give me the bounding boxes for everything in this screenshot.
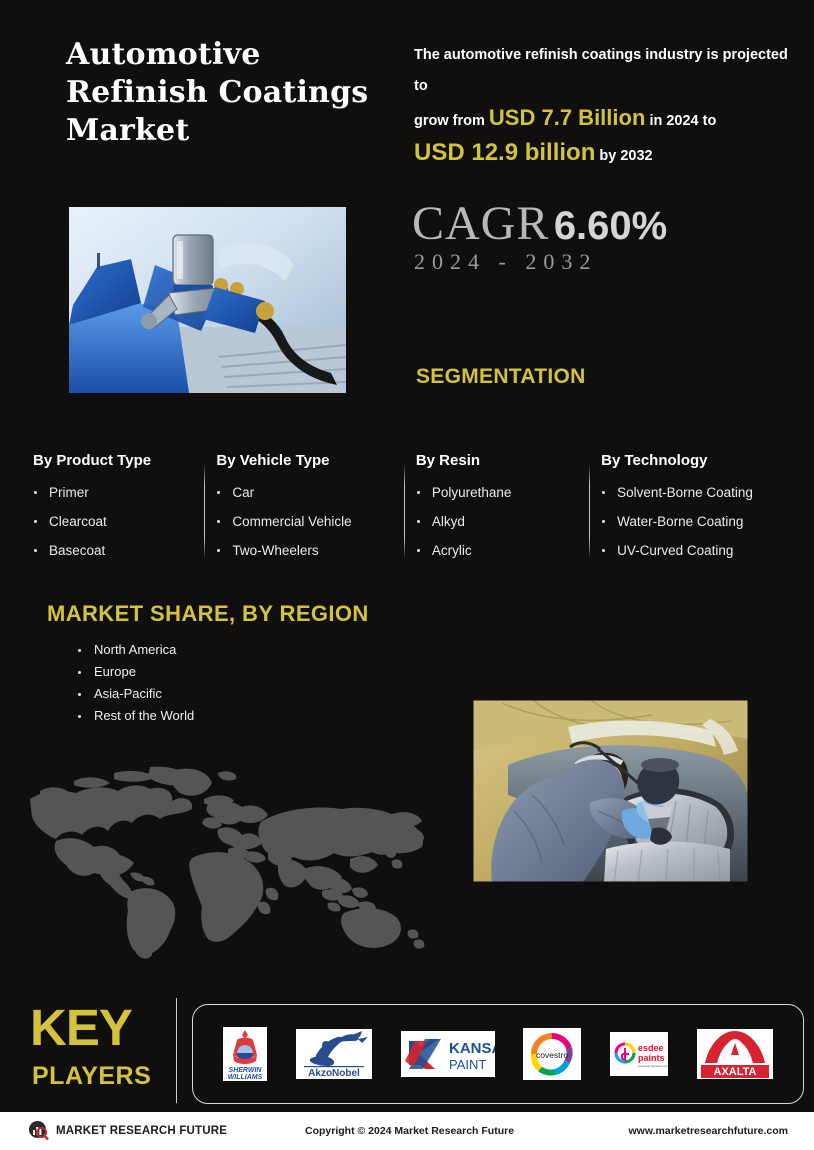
cagr-value: 6.60%	[554, 204, 667, 248]
world-map-art	[22, 765, 442, 965]
footer-brand: MARKET RESEARCH FUTURE	[28, 1120, 227, 1141]
segmentation-column-product-type: By Product Type Primer Clearcoat Basecoa…	[30, 452, 213, 567]
photo-spray-gun-art	[69, 207, 346, 393]
svg-text:industrial pigment combination: industrial pigment combinations	[638, 1064, 668, 1068]
infographic-canvas: Automotive Refinish Coatings Market The …	[0, 0, 814, 1112]
svg-text:SHERWIN: SHERWIN	[229, 1067, 263, 1074]
market-share-heading: MARKET SHARE, BY REGION	[47, 601, 369, 627]
list-item: UV-Curved Coating	[598, 536, 780, 565]
segmentation-column-title: By Product Type	[33, 452, 203, 469]
list-item: Clearcoat	[30, 507, 203, 536]
list-item: Car	[213, 478, 402, 507]
value-2024: USD 7.7 Billion	[489, 105, 645, 130]
list-item: Acrylic	[413, 536, 588, 565]
list-item: Alkyd	[413, 507, 588, 536]
key-players-divider	[176, 998, 177, 1103]
segmentation-column-vehicle-type: By Vehicle Type Car Commercial Vehicle T…	[213, 452, 412, 567]
svg-text:PAINT: PAINT	[449, 1057, 486, 1072]
sherwin-williams-icon: SHERWIN WILLIAMS	[223, 1027, 267, 1081]
list-item: Basecoat	[30, 536, 203, 565]
axalta-icon: AXALTA	[697, 1029, 773, 1079]
svg-text:WILLIAMS: WILLIAMS	[228, 1074, 263, 1081]
logo-kansai-paint[interactable]: KANSAI PAINT	[401, 1031, 495, 1077]
logo-akzonobel[interactable]: AkzoNobel	[296, 1029, 372, 1079]
footer-copyright: Copyright © 2024 Market Research Future	[305, 1125, 514, 1137]
list-item: Asia-Pacific	[74, 683, 194, 705]
logo-sherwin-williams[interactable]: SHERWIN WILLIAMS	[223, 1027, 267, 1081]
list-item: Europe	[74, 661, 194, 683]
covestro-icon: covestro	[523, 1028, 581, 1080]
value-2032: USD 12.9 billion	[414, 139, 595, 166]
market-share-region-list: North America Europe Asia-Pacific Rest o…	[74, 639, 194, 727]
svg-text:AkzoNobel: AkzoNobel	[308, 1068, 360, 1079]
key-players-title-bottom: PLAYERS	[32, 1062, 151, 1091]
segmentation-column-technology: By Technology Solvent-Borne Coating Wate…	[598, 452, 790, 567]
list-item: Rest of the World	[74, 705, 194, 727]
segmentation-list: Solvent-Borne Coating Water-Borne Coatin…	[598, 478, 780, 565]
list-item: North America	[74, 639, 194, 661]
market-research-future-logo-icon	[28, 1120, 49, 1141]
segmentation-heading: SEGMENTATION	[416, 365, 586, 389]
column-divider	[404, 464, 405, 559]
cagr-years: 2024 - 2032	[414, 249, 597, 275]
segmentation-list: Primer Clearcoat Basecoat	[30, 478, 203, 565]
infographic-page: Automotive Refinish Coatings Market The …	[0, 0, 814, 1150]
kansai-paint-icon: KANSAI PAINT	[401, 1031, 495, 1077]
segmentation-column-title: By Vehicle Type	[216, 452, 402, 469]
list-item: Two-Wheelers	[213, 536, 402, 565]
list-item: Commercial Vehicle	[213, 507, 402, 536]
footer-brand-text: MARKET RESEARCH FUTURE	[56, 1125, 227, 1137]
segmentation-column-title: By Technology	[601, 452, 780, 469]
footer-url[interactable]: www.marketresearchfuture.com	[628, 1125, 788, 1137]
photo-spray-gun	[69, 207, 346, 393]
cagr-label: CAGR	[412, 197, 549, 250]
svg-text:esdee: esdee	[638, 1043, 664, 1053]
key-players-title-top: KEY	[30, 1003, 132, 1053]
logo-esdee-paints[interactable]: esdee paints industrial pigment combinat…	[610, 1032, 668, 1076]
esdee-paints-icon: esdee paints industrial pigment combinat…	[610, 1032, 668, 1076]
photo-worker	[472, 699, 749, 883]
world-map	[22, 765, 442, 965]
footer: MARKET RESEARCH FUTURE Copyright © 2024 …	[0, 1112, 814, 1150]
intro-in-2024-to: in 2024 to	[649, 113, 716, 129]
svg-text:covestro: covestro	[536, 1050, 568, 1060]
logo-axalta[interactable]: AXALTA	[697, 1029, 773, 1079]
logo-covestro[interactable]: covestro	[523, 1028, 581, 1080]
intro-grow-from: grow from	[414, 113, 485, 129]
list-item: Polyurethane	[413, 478, 588, 507]
list-item: Primer	[30, 478, 203, 507]
segmentation-row: By Product Type Primer Clearcoat Basecoa…	[30, 452, 790, 567]
segmentation-column-resin: By Resin Polyurethane Alkyd Acrylic	[413, 452, 598, 567]
list-item: Solvent-Borne Coating	[598, 478, 780, 507]
svg-text:paints: paints	[638, 1053, 665, 1063]
akzonobel-icon: AkzoNobel	[296, 1029, 372, 1079]
intro-line1: The automotive refinish coatings industr…	[414, 47, 788, 94]
cagr-block: CAGR 6.60%	[412, 196, 667, 251]
intro-by-2032: by 2032	[599, 148, 652, 164]
svg-text:KANSAI: KANSAI	[449, 1040, 495, 1057]
segmentation-column-title: By Resin	[416, 452, 588, 469]
key-players-logo-box: SHERWIN WILLIAMS AkzoNobe	[192, 1004, 804, 1104]
page-title: Automotive Refinish Coatings Market	[66, 36, 396, 150]
intro-statement: The automotive refinish coatings industr…	[414, 40, 804, 172]
svg-text:AXALTA: AXALTA	[713, 1066, 756, 1078]
column-divider	[204, 464, 205, 559]
column-divider	[589, 464, 590, 559]
list-item: Water-Borne Coating	[598, 507, 780, 536]
segmentation-list: Car Commercial Vehicle Two-Wheelers	[213, 478, 402, 565]
photo-worker-art	[472, 699, 749, 883]
segmentation-list: Polyurethane Alkyd Acrylic	[413, 478, 588, 565]
